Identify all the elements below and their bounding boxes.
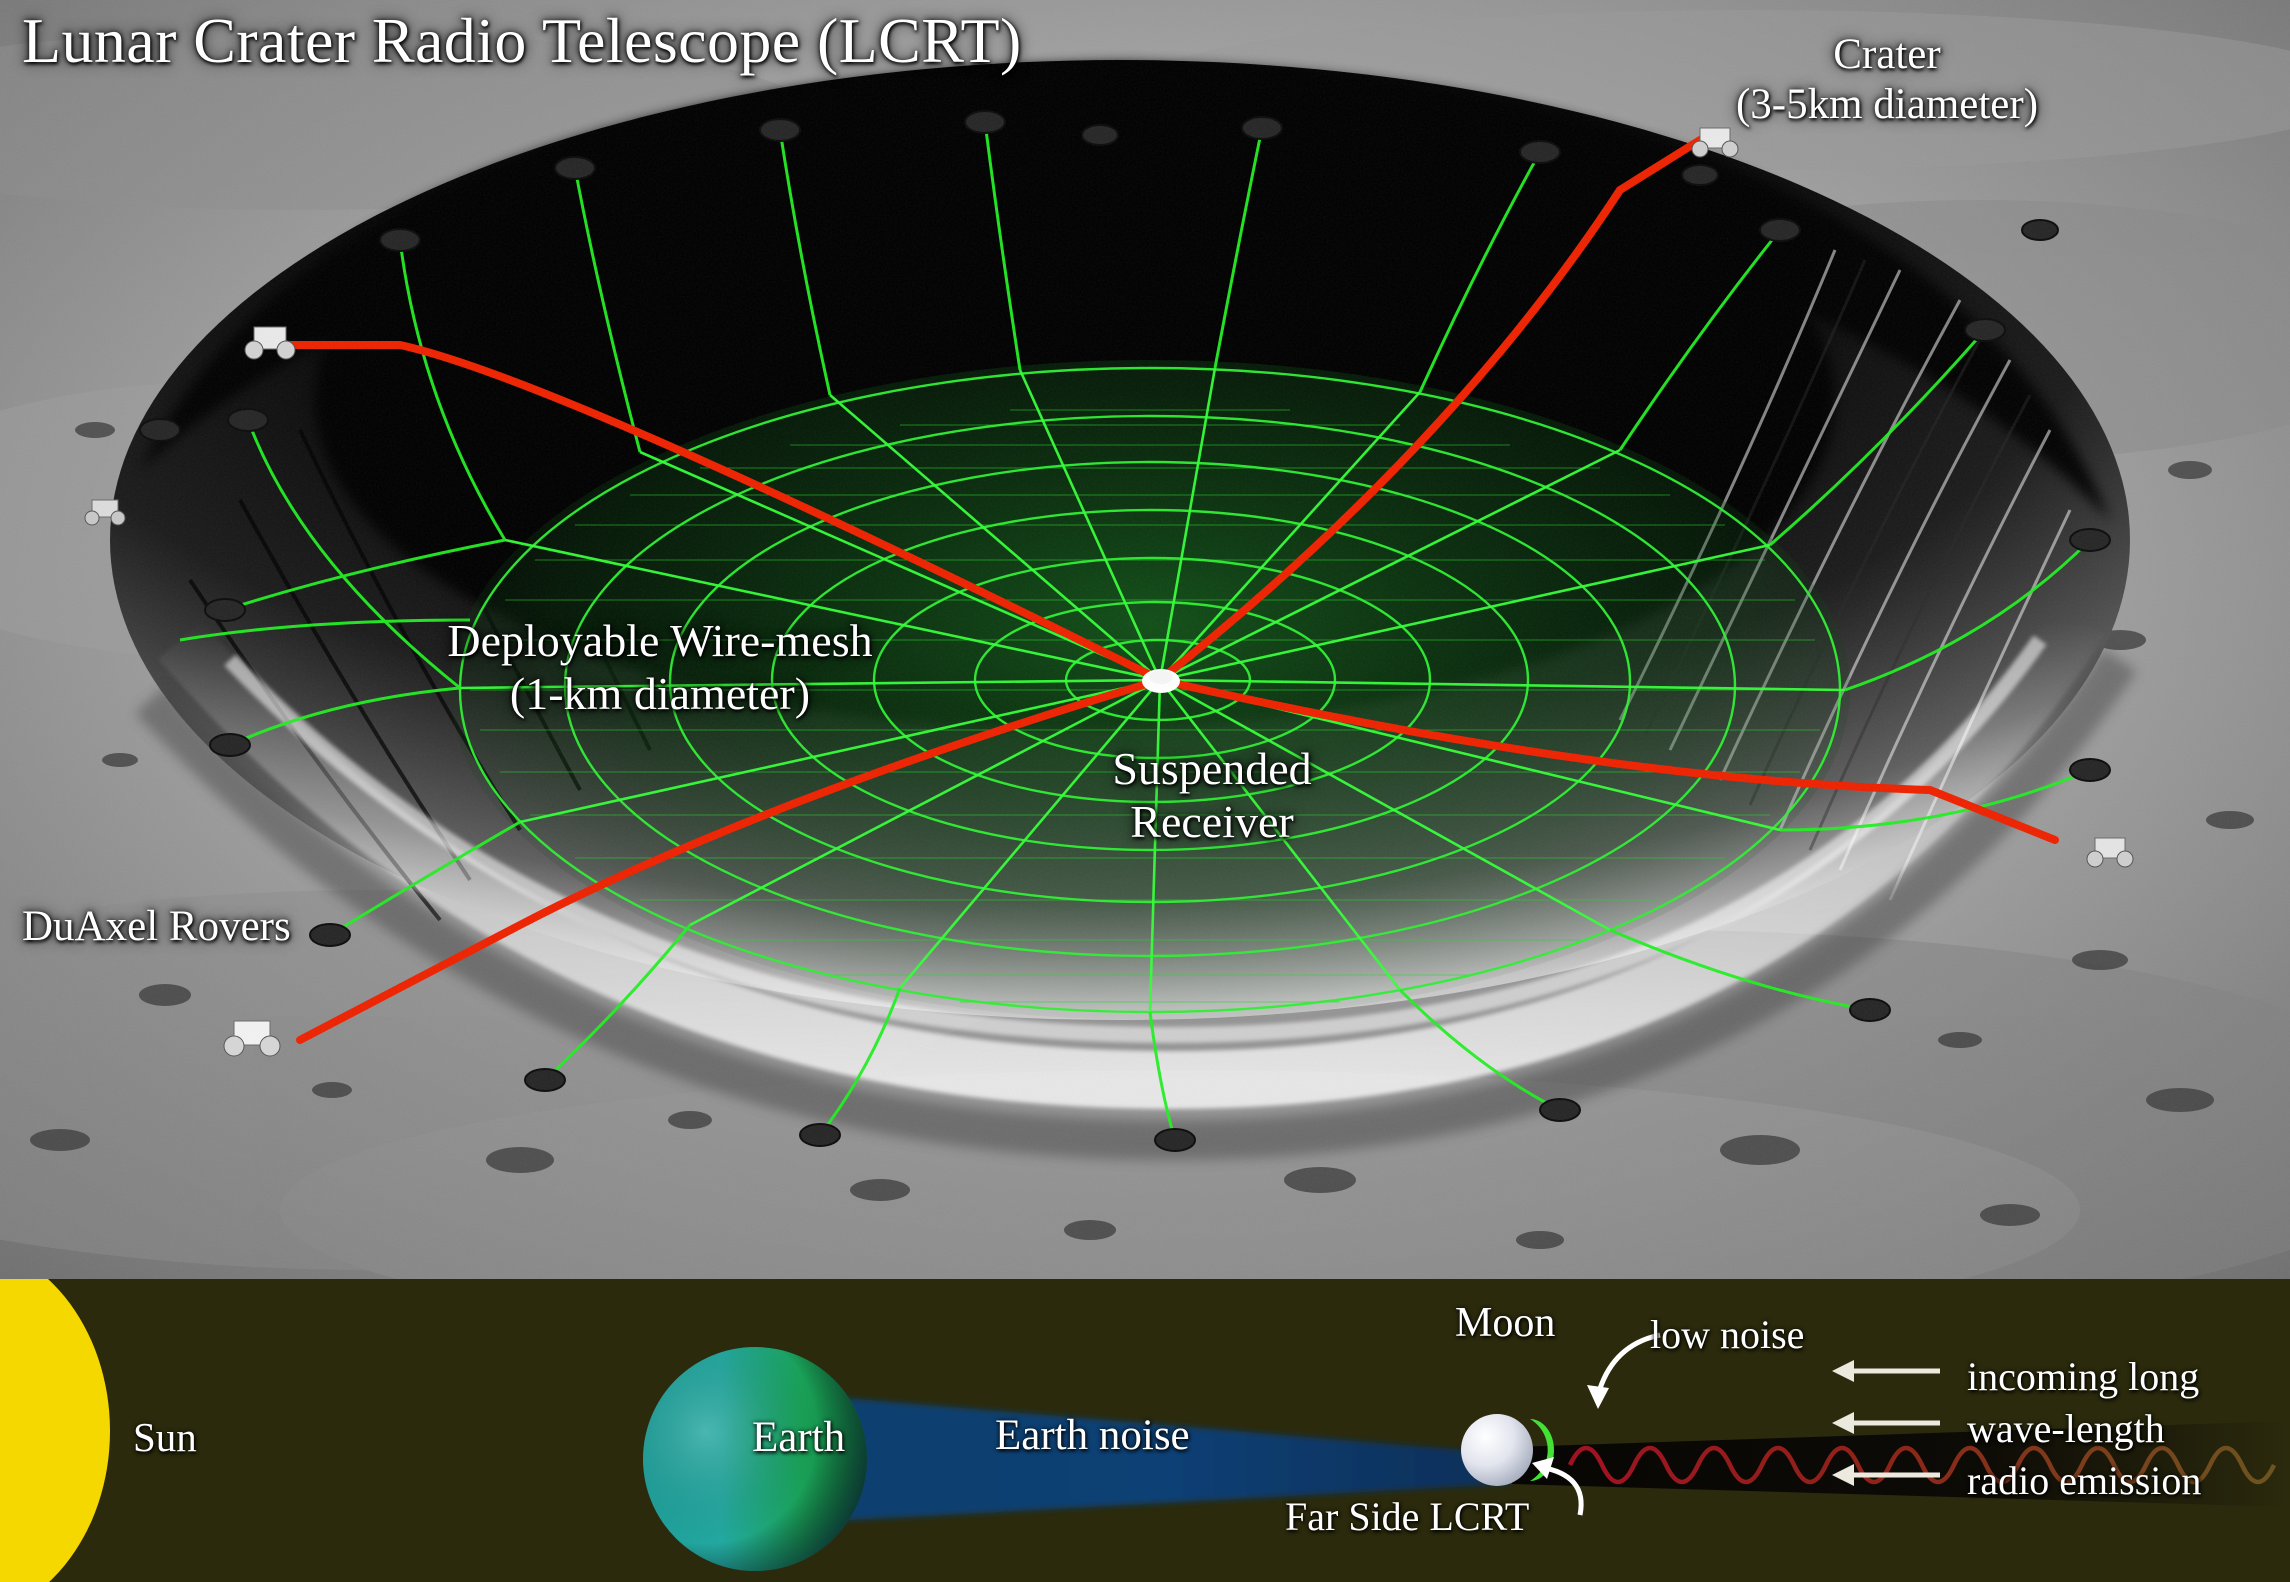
- farside-lcrt-label: Far Side LCRT: [1285, 1495, 1529, 1540]
- low-noise-label: low noise: [1650, 1313, 1804, 1358]
- legend-line-3: radio emission: [1967, 1459, 2201, 1504]
- duaxel-rovers-label: DuAxel Rovers: [22, 902, 291, 952]
- mesh-label-line2: (1-km diameter): [510, 668, 810, 719]
- crater-label-line2: (3-5km diameter): [1736, 81, 2038, 128]
- receiver-label: Suspended Receiver: [1112, 742, 1311, 849]
- moon-label: Moon: [1455, 1300, 1555, 1347]
- crater-illustration-svg: [0, 0, 2290, 1279]
- mesh-label-line1: Deployable Wire-mesh: [447, 615, 872, 666]
- crater-size-label: Crater (3-5km diameter): [1736, 30, 2038, 130]
- lcrt-infographic: Lunar Crater Radio Telescope (LCRT) Crat…: [0, 0, 2290, 1582]
- earth-noise-label: Earth noise: [995, 1412, 1190, 1460]
- crater-label-line1: Crater: [1833, 31, 1940, 78]
- receiver-label-line2: Receiver: [1130, 796, 1293, 847]
- page-title: Lunar Crater Radio Telescope (LCRT): [22, 4, 1022, 78]
- earth-label: Earth: [752, 1414, 845, 1462]
- crater-scene: Lunar Crater Radio Telescope (LCRT) Crat…: [0, 0, 2290, 1279]
- legend-line-1: incoming long: [1967, 1355, 2199, 1400]
- image-grain: [0, 0, 2290, 1279]
- wire-mesh-label: Deployable Wire-mesh (1-km diameter): [447, 614, 872, 721]
- receiver-label-line1: Suspended: [1112, 743, 1311, 794]
- moon-sphere: [1461, 1414, 1533, 1486]
- sun-label: Sun: [133, 1415, 197, 1461]
- legend-line-2: wave-length: [1967, 1407, 2165, 1452]
